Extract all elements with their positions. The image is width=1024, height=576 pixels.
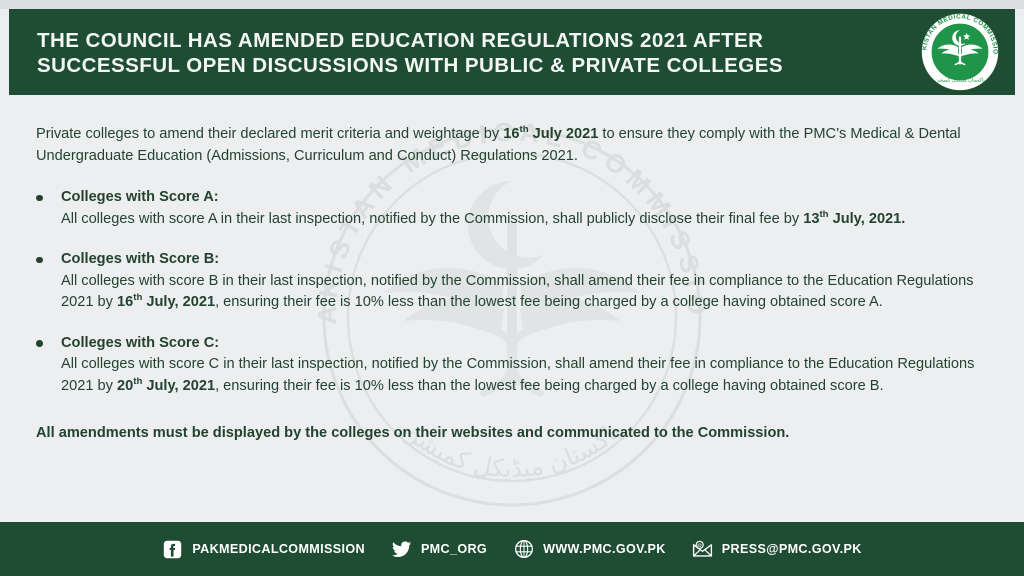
poster: THE COUNCIL HAS AMENDED EDUCATION REGULA…	[0, 0, 1024, 576]
footer-facebook-label: PAKMEDICALCOMMISSION	[192, 542, 365, 556]
page-title-line2: SUCCESSFUL OPEN DISCUSSIONS WITH PUBLIC …	[37, 53, 837, 78]
bullet-title-a: Colleges with Score A:	[61, 187, 992, 209]
intro-date-day: 16	[503, 126, 519, 142]
footer-band: PAKMEDICALCOMMISSION PMC_ORG	[0, 522, 1024, 576]
bullet-a-date-day: 13	[803, 211, 819, 227]
footer-website[interactable]: WWW.PMC.GOV.PK	[513, 539, 666, 560]
bullet-b-date-rest: July, 2021	[142, 294, 215, 310]
intro-date-ordinal: th	[519, 124, 528, 135]
footer-twitter[interactable]: PMC_ORG	[391, 539, 487, 560]
page-title: THE COUNCIL HAS AMENDED EDUCATION REGULA…	[37, 28, 837, 78]
twitter-icon	[391, 539, 412, 560]
closing-statement: All amendments must be displayed by the …	[36, 423, 992, 445]
page-title-line1: THE COUNCIL HAS AMENDED EDUCATION REGULA…	[37, 29, 763, 52]
bullet-body-c: All colleges with score C in their last …	[61, 354, 992, 397]
bullet-dot-icon	[36, 257, 43, 264]
content: Private colleges to amend their declared…	[0, 95, 1024, 445]
footer-website-label: WWW.PMC.GOV.PK	[543, 542, 666, 556]
bullet-body-b: All colleges with score B in their last …	[61, 271, 992, 314]
bullet-a-date: 13th July, 2021.	[803, 211, 905, 227]
footer-email-label: PRESS@PMC.GOV.PK	[722, 542, 862, 556]
bullet-c-date-rest: July, 2021	[142, 378, 215, 394]
bullet-a-date-ordinal: th	[819, 209, 828, 220]
bullet-title-c: Colleges with Score C:	[61, 333, 992, 355]
bullet-score-c: Colleges with Score C: All colleges with…	[36, 333, 992, 398]
bullet-c-part2: , ensuring their fee is 10% less than th…	[215, 378, 884, 394]
globe-icon	[513, 539, 534, 560]
pmc-seal-logo: PAKISTAN MEDICAL COMMISSION پاکستان میڈی…	[921, 13, 999, 91]
bullet-b-date-ordinal: th	[133, 292, 142, 303]
bullet-c-date-day: 20	[117, 378, 133, 394]
svg-text:پاکستان میڈیکل کمیشن: پاکستان میڈیکل کمیشن	[935, 78, 985, 84]
intro-date: 16th July 2021	[503, 126, 598, 142]
footer-twitter-label: PMC_ORG	[421, 542, 487, 556]
bullet-title-b: Colleges with Score B:	[61, 249, 992, 271]
footer-facebook[interactable]: PAKMEDICALCOMMISSION	[162, 539, 365, 560]
intro-paragraph: Private colleges to amend their declared…	[36, 124, 992, 167]
bullet-a-date-rest: July, 2021.	[829, 211, 906, 227]
header-band: THE COUNCIL HAS AMENDED EDUCATION REGULA…	[9, 9, 1015, 95]
bullet-c-date: 20th July, 2021	[117, 378, 215, 394]
bullet-b-part2: , ensuring their fee is 10% less than th…	[215, 294, 883, 310]
bullet-dot-icon	[36, 340, 43, 347]
email-icon: @	[692, 539, 713, 560]
svg-text:@: @	[697, 542, 702, 548]
intro-part1: Private colleges to amend their declared…	[36, 126, 503, 142]
facebook-icon	[162, 539, 183, 560]
top-margin-strip	[0, 0, 1024, 9]
bullet-body-a: All colleges with score A in their last …	[61, 209, 992, 231]
bullet-b-date-day: 16	[117, 294, 133, 310]
bullet-dot-icon	[36, 195, 43, 202]
bullet-score-a: Colleges with Score A: All colleges with…	[36, 187, 992, 230]
footer-email[interactable]: @ PRESS@PMC.GOV.PK	[692, 539, 862, 560]
footer-contact-list: PAKMEDICALCOMMISSION PMC_ORG	[162, 539, 861, 560]
bullet-b-date: 16th July, 2021	[117, 294, 215, 310]
intro-date-rest: July 2021	[529, 126, 599, 142]
bullet-a-part1: All colleges with score A in their last …	[61, 211, 803, 227]
bullet-c-date-ordinal: th	[133, 376, 142, 387]
bullet-score-b: Colleges with Score B: All colleges with…	[36, 249, 992, 314]
body-area: PAKISTAN MEDICAL COMMISSION پاکستان میڈی…	[0, 95, 1024, 522]
